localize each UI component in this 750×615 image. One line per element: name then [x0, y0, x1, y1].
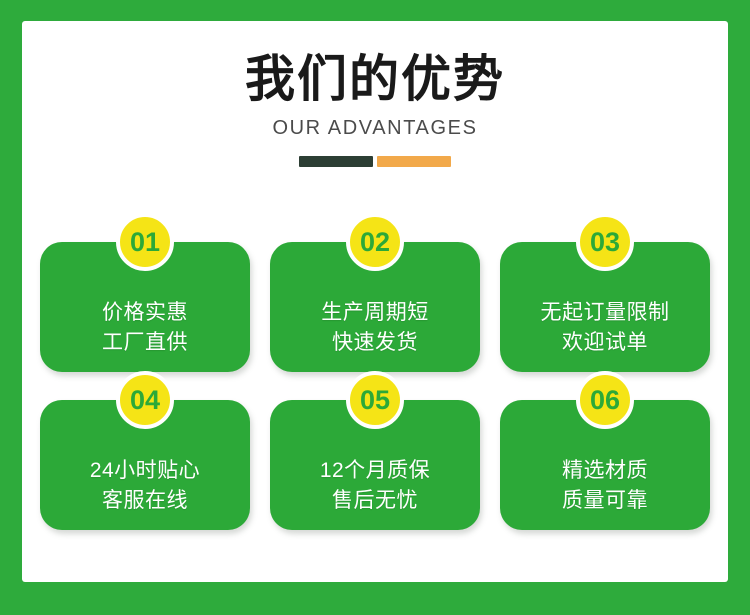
card-line-1: 生产周期短 — [321, 298, 429, 328]
card-number-badge: 06 — [576, 371, 634, 429]
advantage-card[interactable]: 03 无起订量限制 欢迎试单 — [500, 242, 710, 372]
advantage-card[interactable]: 02 生产周期短 快速发货 — [270, 242, 480, 372]
page-title: 我们的优势 — [22, 21, 728, 107]
card-line-2: 质量可靠 — [562, 486, 648, 516]
card-line-2: 客服在线 — [90, 486, 200, 516]
advantage-card[interactable]: 04 24小时贴心 客服在线 — [40, 400, 250, 530]
card-line-1: 24小时贴心 — [90, 456, 200, 486]
card-line-2: 售后无忧 — [320, 486, 430, 516]
advantage-card[interactable]: 01 价格实惠 工厂直供 — [40, 242, 250, 372]
card-number-badge: 05 — [346, 371, 404, 429]
card-line-1: 精选材质 — [562, 456, 648, 486]
card-text: 生产周期短 快速发货 — [321, 298, 429, 358]
page-subtitle: OUR ADVANTAGES — [22, 107, 728, 140]
advantage-card-grid: 01 价格实惠 工厂直供 02 生产周期短 快速发货 03 无起订量限制 欢迎试… — [40, 242, 710, 530]
title-divider — [299, 156, 451, 167]
card-line-1: 12个月质保 — [320, 456, 430, 486]
header: 我们的优势 OUR ADVANTAGES — [22, 21, 728, 167]
card-line-2: 工厂直供 — [102, 328, 188, 358]
divider-segment-orange — [377, 156, 451, 167]
card-line-1: 价格实惠 — [102, 298, 188, 328]
content-panel: 我们的优势 OUR ADVANTAGES 01 价格实惠 工厂直供 02 生产周… — [22, 21, 728, 582]
card-number-badge: 03 — [576, 213, 634, 271]
card-text: 精选材质 质量可靠 — [562, 456, 648, 516]
card-number-badge: 02 — [346, 213, 404, 271]
card-line-1: 无起订量限制 — [541, 298, 670, 328]
card-text: 12个月质保 售后无忧 — [320, 456, 430, 516]
divider-segment-dark — [299, 156, 373, 167]
advantages-poster: 我们的优势 OUR ADVANTAGES 01 价格实惠 工厂直供 02 生产周… — [0, 0, 750, 615]
card-number-badge: 01 — [116, 213, 174, 271]
card-number-badge: 04 — [116, 371, 174, 429]
card-line-2: 欢迎试单 — [541, 328, 670, 358]
card-text: 价格实惠 工厂直供 — [102, 298, 188, 358]
card-text: 24小时贴心 客服在线 — [90, 456, 200, 516]
card-text: 无起订量限制 欢迎试单 — [541, 298, 670, 358]
advantage-card[interactable]: 06 精选材质 质量可靠 — [500, 400, 710, 530]
advantage-card[interactable]: 05 12个月质保 售后无忧 — [270, 400, 480, 530]
card-line-2: 快速发货 — [321, 328, 429, 358]
